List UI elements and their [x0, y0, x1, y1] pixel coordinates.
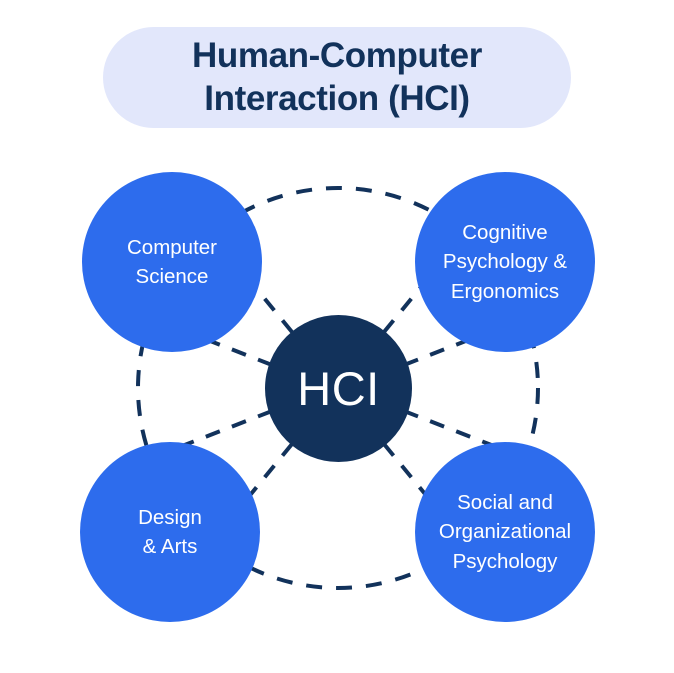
- node-hci-hub-label: HCI: [297, 365, 379, 412]
- node-cognitive-psychology-ergonomics-label: Cognitive Psychology & Ergonomics: [433, 218, 577, 305]
- node-hci-hub[interactable]: HCI: [265, 315, 412, 462]
- node-computer-science[interactable]: Computer Science: [82, 172, 262, 352]
- node-cognitive-psychology-ergonomics[interactable]: Cognitive Psychology & Ergonomics: [415, 172, 595, 352]
- node-social-organizational-psychology[interactable]: Social and Organizational Psychology: [415, 442, 595, 622]
- node-computer-science-label: Computer Science: [117, 233, 227, 291]
- node-design-arts-label: Design & Arts: [128, 503, 212, 561]
- node-design-arts[interactable]: Design & Arts: [80, 442, 260, 622]
- spoke-hub-to-social-psychology-a: [404, 411, 494, 446]
- node-social-organizational-psychology-label: Social and Organizational Psychology: [429, 488, 581, 575]
- diagram-canvas: Human-Computer Interaction (HCI) Compute…: [0, 0, 674, 673]
- spoke-hub-to-design-arts-a: [182, 411, 272, 446]
